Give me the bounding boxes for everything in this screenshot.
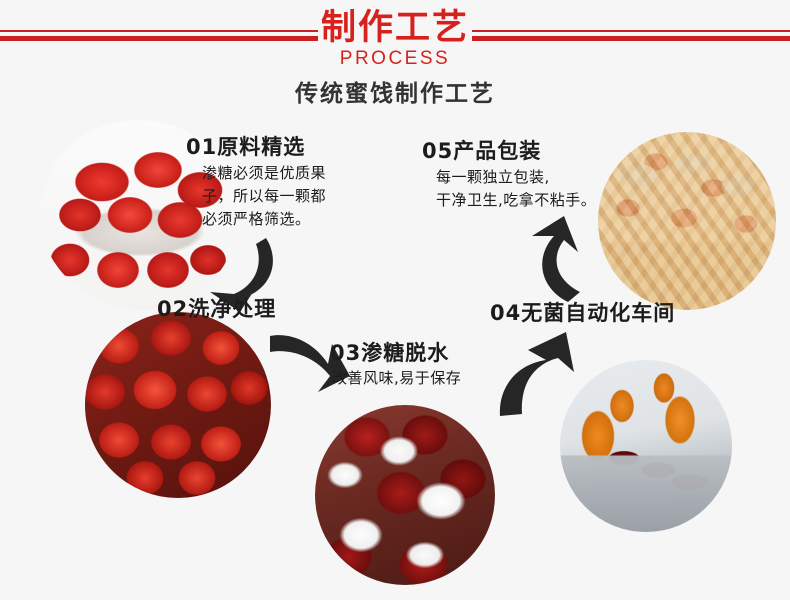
sugar-dehydration-photo bbox=[315, 405, 495, 585]
step-01-line-3: 必须严格筛选。 bbox=[202, 208, 326, 231]
arrow-step-03-to-04-icon bbox=[496, 328, 588, 422]
step-01-line-1: 渗糖必须是优质果 bbox=[202, 162, 326, 185]
washing-photo bbox=[85, 312, 271, 498]
step-05-label: 05产品包装 每一颗独立包装, 干净卫生,吃拿不粘手。 bbox=[422, 138, 596, 212]
step-02-label: 02洗净处理 bbox=[157, 296, 276, 322]
step-03-heading: 03渗糖脱水 bbox=[330, 340, 461, 366]
page-title-english: PROCESS bbox=[0, 48, 790, 70]
step-05-line-2: 干净卫生,吃拿不粘手。 bbox=[436, 189, 596, 212]
page-title: 制作工艺 bbox=[0, 8, 790, 48]
process-infographic: 制作工艺 PROCESS 传统蜜饯制作工艺 01原料精选 渗糖必须是优质果 子，… bbox=[0, 0, 790, 600]
step-03-line-1: 改善风味,易于保存 bbox=[332, 367, 461, 390]
header: 制作工艺 PROCESS bbox=[0, 0, 790, 72]
step-01-line-2: 子，所以每一颗都 bbox=[202, 185, 326, 208]
step-05-description: 每一颗独立包装, 干净卫生,吃拿不粘手。 bbox=[436, 166, 596, 212]
step-05-line-1: 每一颗独立包装, bbox=[436, 166, 596, 189]
packaging-photo bbox=[598, 132, 776, 310]
step-04-label: 04无菌自动化车间 bbox=[490, 300, 675, 326]
step-02-heading: 02洗净处理 bbox=[157, 296, 276, 322]
step-01-heading: 01原料精选 bbox=[186, 134, 326, 160]
step-01-description: 渗糖必须是优质果 子，所以每一颗都 必须严格筛选。 bbox=[202, 162, 326, 231]
step-03-label: 03渗糖脱水 改善风味,易于保存 bbox=[330, 340, 461, 390]
arrow-step-04-to-05-icon bbox=[524, 214, 620, 306]
step-01-label: 01原料精选 渗糖必须是优质果 子，所以每一颗都 必须严格筛选。 bbox=[186, 134, 326, 231]
step-04-heading: 04无菌自动化车间 bbox=[490, 300, 675, 326]
step-03-description: 改善风味,易于保存 bbox=[332, 367, 461, 390]
step-05-heading: 05产品包装 bbox=[422, 138, 596, 164]
page-subtitle: 传统蜜饯制作工艺 bbox=[0, 80, 790, 108]
